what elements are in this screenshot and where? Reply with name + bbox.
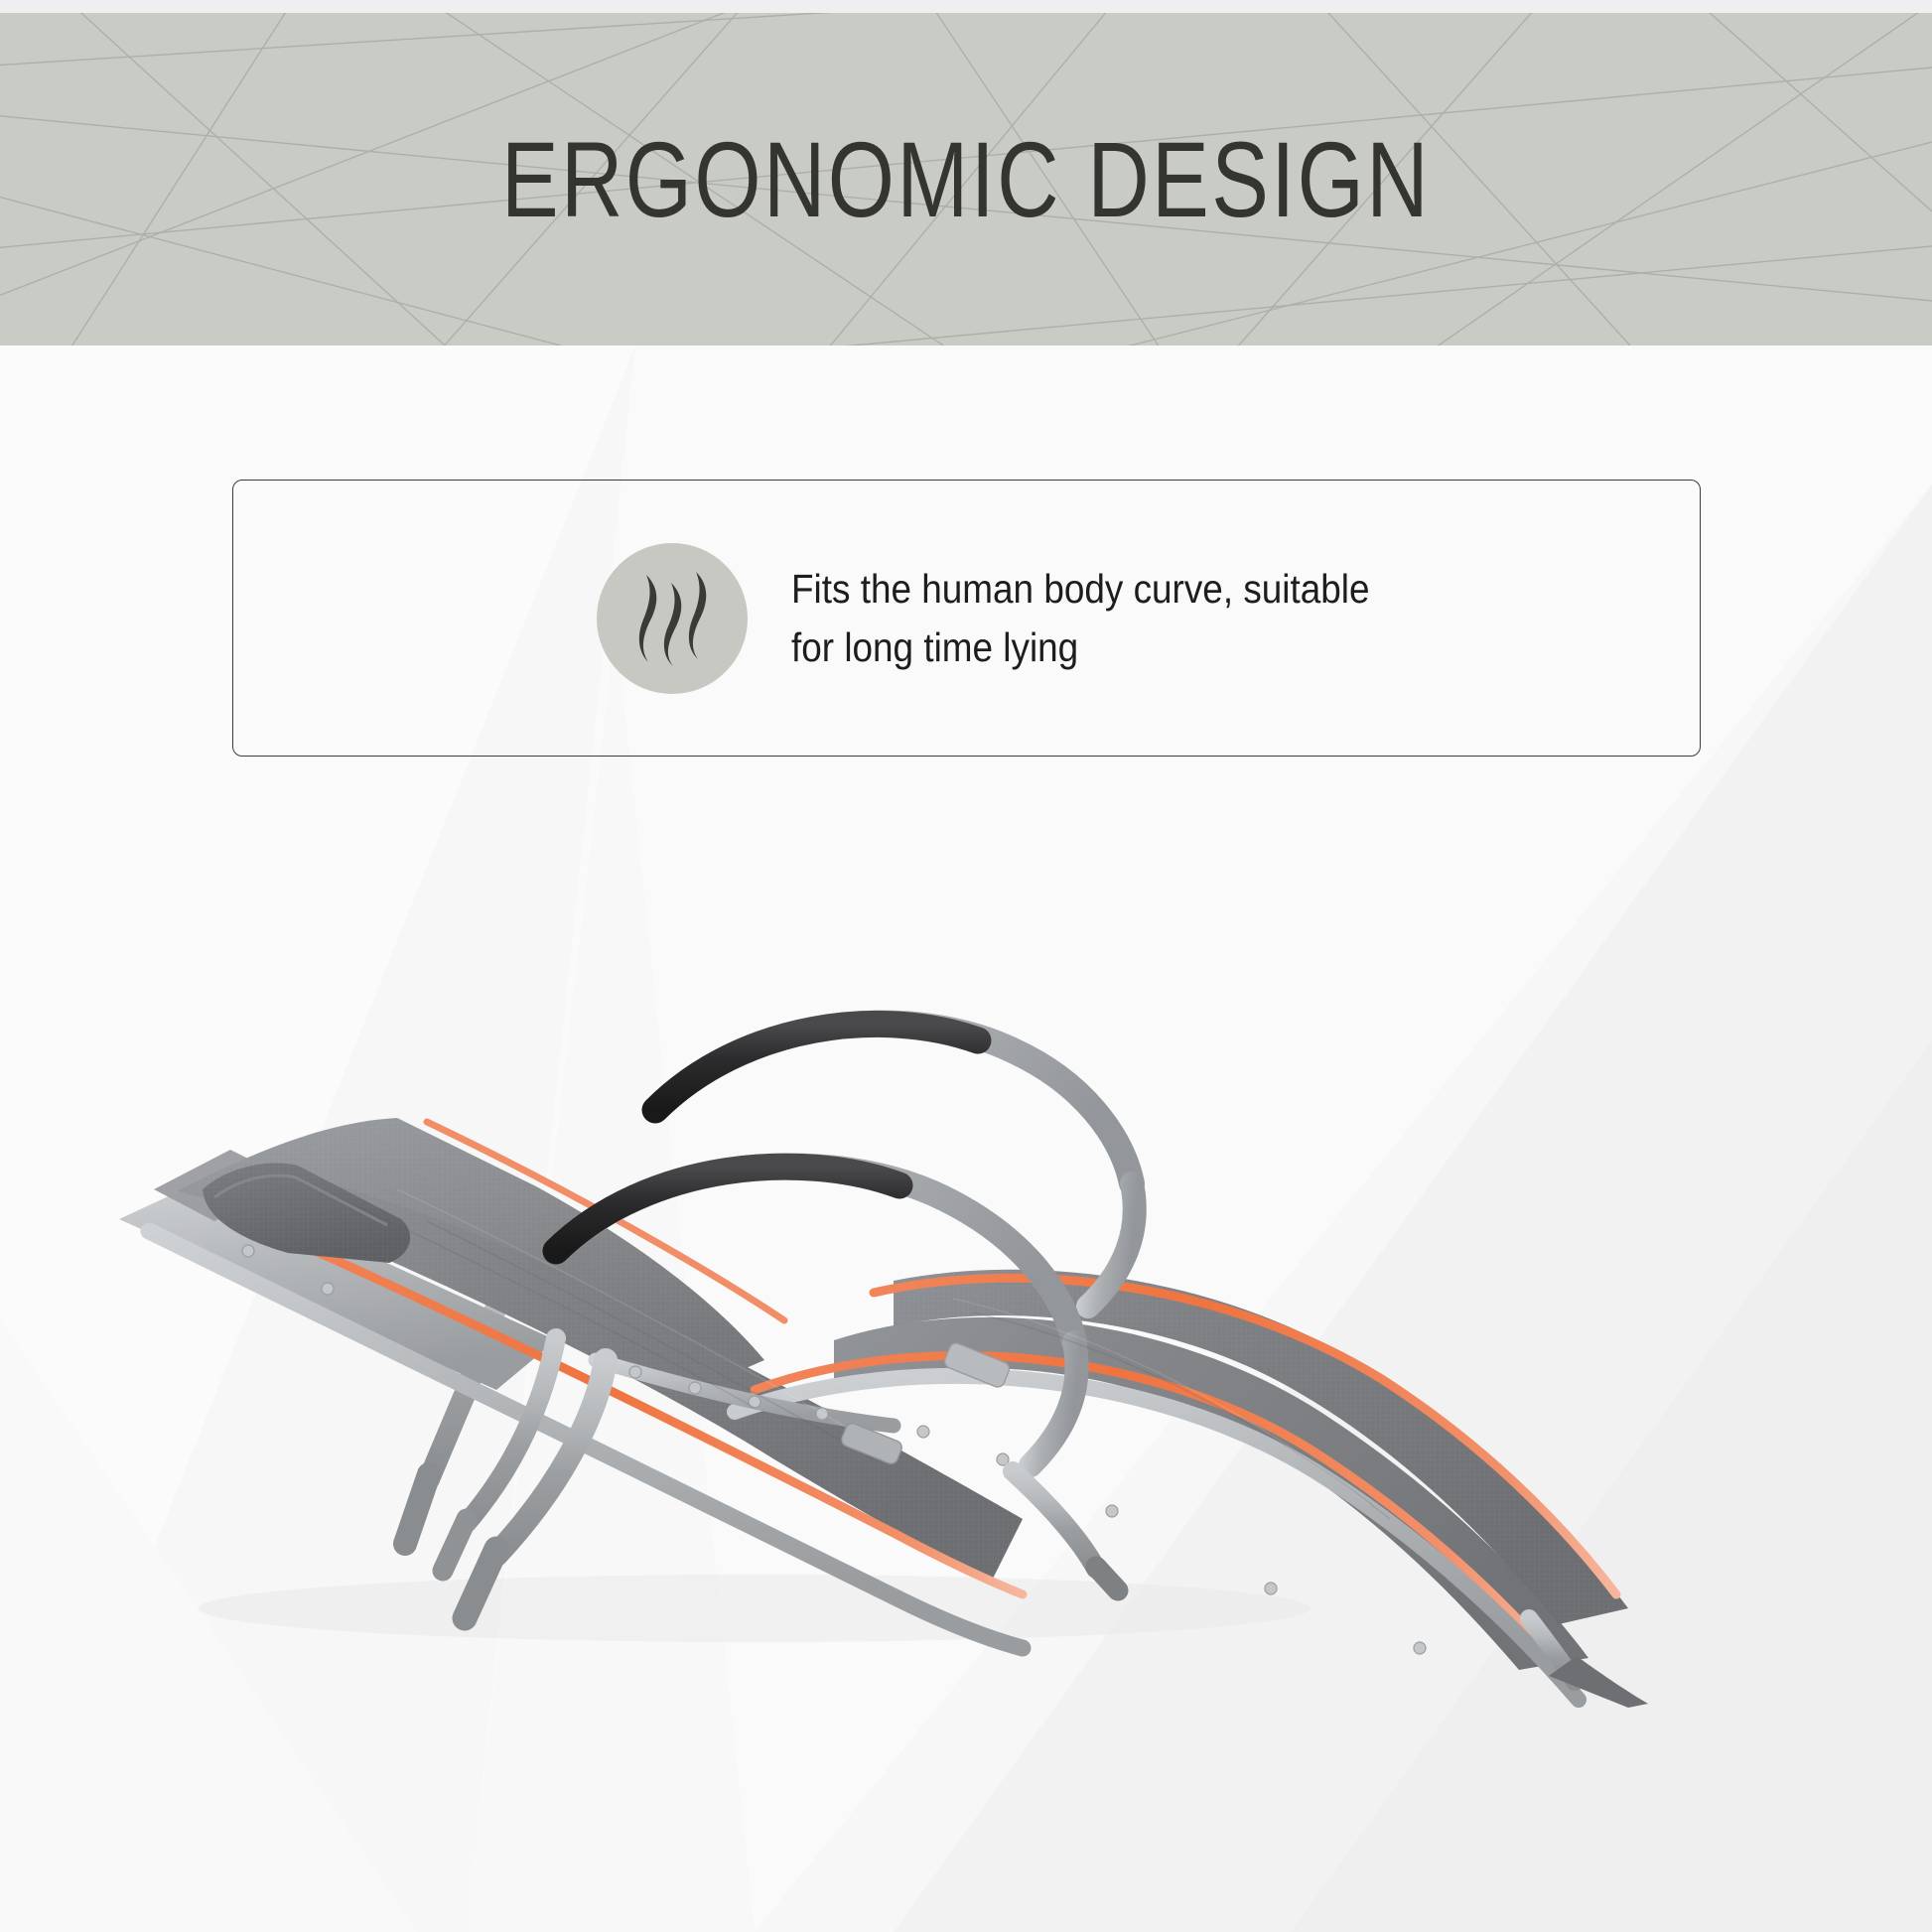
feature-callout-box: Fits the human body curve, suitable for … bbox=[232, 480, 1701, 757]
airflow-waves-icon bbox=[597, 543, 748, 694]
top-edge-strip bbox=[0, 0, 1932, 13]
lounger-illustration bbox=[0, 923, 1747, 1708]
callout-description: Fits the human body curve, suitable for … bbox=[791, 560, 1370, 675]
product-feature-card: ERGONOMIC DESIGN bbox=[0, 0, 1932, 1932]
product-image-sun-lounger bbox=[0, 923, 1747, 1708]
wave-lines-glyph bbox=[626, 567, 718, 670]
callout-line-1: Fits the human body curve, suitable bbox=[791, 560, 1370, 618]
page-title: ERGONOMIC DESIGN bbox=[194, 13, 1739, 345]
callout-line-2: for long time lying bbox=[791, 619, 1370, 676]
callout-content: Fits the human body curve, suitable for … bbox=[597, 543, 1434, 694]
header-banner: ERGONOMIC DESIGN bbox=[0, 13, 1932, 345]
